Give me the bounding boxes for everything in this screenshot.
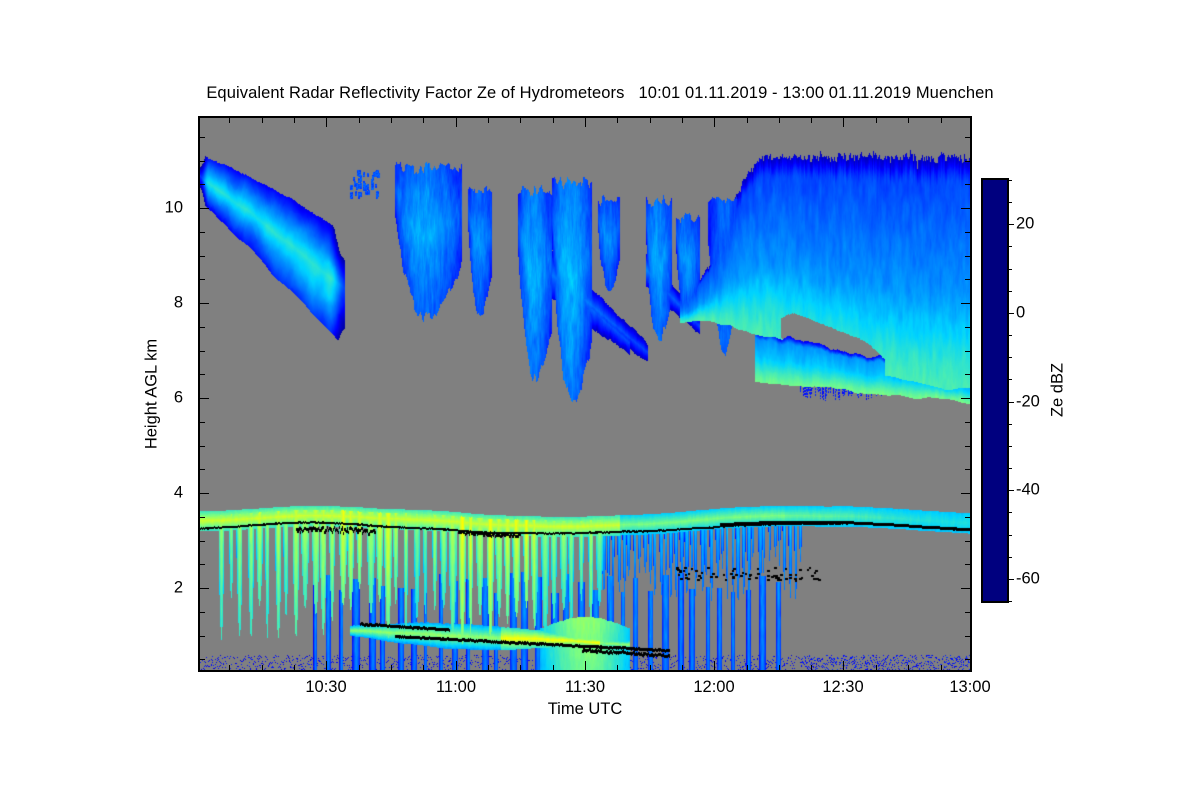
tick-mark — [941, 665, 942, 670]
tick-mark — [456, 118, 457, 127]
tick-mark — [488, 665, 489, 670]
tick-mark — [965, 422, 970, 423]
colorbar-tick — [1009, 224, 1014, 225]
x-axis-title: Time UTC — [548, 700, 623, 719]
tick-mark — [585, 661, 586, 670]
tick-mark — [200, 351, 205, 352]
colorbar-tick-label: 20 — [1016, 215, 1034, 234]
colorbar-minor-tick — [1009, 601, 1012, 602]
tick-mark — [200, 659, 205, 660]
tick-mark — [965, 161, 970, 162]
tick-mark — [961, 208, 970, 209]
tick-mark — [965, 612, 970, 613]
y-tick-label: 2 — [145, 579, 183, 598]
tick-mark — [965, 256, 970, 257]
colorbar-minor-tick — [1009, 379, 1012, 380]
colorbar-tick — [1009, 579, 1014, 580]
tick-mark — [965, 469, 970, 470]
tick-mark — [961, 493, 970, 494]
x-tick-label: 11:30 — [565, 678, 605, 697]
tick-mark — [965, 659, 970, 660]
tick-mark — [200, 374, 205, 375]
tick-mark — [965, 137, 970, 138]
tick-mark — [811, 665, 812, 670]
tick-mark — [965, 541, 970, 542]
tick-mark — [423, 118, 424, 123]
x-tick-label: 12:30 — [822, 678, 863, 697]
colorbar-minor-tick — [1009, 512, 1012, 513]
radar-reflectivity-figure: Equivalent Radar Reflectivity Factor Ze … — [0, 0, 1200, 800]
colorbar-tick-label: -40 — [1016, 481, 1040, 500]
tick-mark — [200, 137, 205, 138]
tick-mark — [200, 517, 205, 518]
colorbar-title: Ze dBZ — [1049, 363, 1068, 417]
tick-mark — [747, 665, 748, 670]
y-tick-label: 4 — [145, 484, 183, 503]
colorbar-minor-tick — [1009, 202, 1012, 203]
reflectivity-heatmap — [200, 118, 970, 670]
tick-mark — [961, 588, 970, 589]
tick-mark — [200, 612, 205, 613]
tick-mark — [779, 665, 780, 670]
y-axis-title: Height AGL km — [143, 339, 162, 449]
tick-mark — [262, 118, 263, 123]
tick-mark — [682, 665, 683, 670]
tick-mark — [714, 661, 715, 670]
tick-mark — [488, 118, 489, 123]
tick-mark — [262, 665, 263, 670]
colorbar-minor-tick — [1009, 535, 1012, 536]
tick-mark — [965, 517, 970, 518]
plot-area — [198, 116, 972, 672]
tick-mark — [200, 303, 209, 304]
tick-mark — [965, 184, 970, 185]
tick-mark — [553, 665, 554, 670]
tick-mark — [200, 232, 205, 233]
colorbar-tick-label: 0 — [1016, 304, 1025, 323]
colorbar-minor-tick — [1009, 291, 1012, 292]
tick-mark — [520, 118, 521, 123]
colorbar-minor-tick — [1009, 180, 1012, 181]
tick-mark — [200, 161, 205, 162]
tick-mark — [359, 118, 360, 123]
tick-mark — [965, 327, 970, 328]
tick-mark — [229, 118, 230, 123]
tick-mark — [617, 118, 618, 123]
tick-mark — [200, 564, 205, 565]
colorbar-minor-tick — [1009, 446, 1012, 447]
x-tick-label: 11:00 — [436, 678, 476, 697]
tick-mark — [294, 118, 295, 123]
tick-mark — [908, 665, 909, 670]
page-title: Equivalent Radar Reflectivity Factor Ze … — [0, 84, 1200, 103]
tick-mark — [965, 564, 970, 565]
colorbar-tick-label: -20 — [1016, 393, 1040, 412]
tick-mark — [779, 118, 780, 123]
tick-mark — [391, 665, 392, 670]
tick-mark — [876, 665, 877, 670]
tick-mark — [970, 118, 971, 127]
tick-mark — [811, 118, 812, 123]
tick-mark — [908, 118, 909, 123]
tick-mark — [553, 118, 554, 123]
tick-mark — [520, 665, 521, 670]
colorbar-minor-tick — [1009, 246, 1012, 247]
x-tick-label: 10:30 — [305, 678, 346, 697]
colorbar-minor-tick — [1009, 269, 1012, 270]
tick-mark — [970, 661, 971, 670]
y-tick-label: 10 — [145, 199, 183, 218]
tick-mark — [200, 636, 205, 637]
colorbar-minor-tick — [1009, 557, 1012, 558]
tick-mark — [965, 232, 970, 233]
tick-mark — [200, 327, 205, 328]
colorbar-minor-tick — [1009, 468, 1012, 469]
tick-mark — [200, 493, 209, 494]
tick-mark — [200, 184, 205, 185]
tick-mark — [941, 118, 942, 123]
tick-mark — [965, 279, 970, 280]
tick-mark — [650, 665, 651, 670]
y-tick-label: 8 — [145, 294, 183, 313]
tick-mark — [585, 118, 586, 127]
tick-mark — [843, 661, 844, 670]
tick-mark — [843, 118, 844, 127]
tick-mark — [617, 665, 618, 670]
tick-mark — [200, 398, 209, 399]
colorbar-tick — [1009, 490, 1014, 491]
tick-mark — [326, 118, 327, 127]
tick-mark — [391, 118, 392, 123]
tick-mark — [965, 446, 970, 447]
tick-mark — [200, 541, 205, 542]
tick-mark — [965, 636, 970, 637]
tick-mark — [326, 661, 327, 670]
tick-mark — [961, 303, 970, 304]
tick-mark — [682, 118, 683, 123]
tick-mark — [876, 118, 877, 123]
tick-mark — [200, 588, 209, 589]
colorbar-tick — [1009, 313, 1014, 314]
tick-mark — [423, 665, 424, 670]
colorbar-minor-tick — [1009, 357, 1012, 358]
tick-mark — [200, 422, 205, 423]
tick-mark — [961, 398, 970, 399]
tick-mark — [965, 374, 970, 375]
colorbar-minor-tick — [1009, 335, 1012, 336]
colorbar-minor-tick — [1009, 424, 1012, 425]
tick-mark — [200, 446, 205, 447]
tick-mark — [200, 208, 209, 209]
tick-mark — [965, 351, 970, 352]
colorbar-gradient — [983, 180, 1007, 601]
tick-mark — [200, 469, 205, 470]
tick-mark — [456, 661, 457, 670]
x-tick-label: 12:00 — [693, 678, 734, 697]
tick-mark — [294, 665, 295, 670]
tick-mark — [714, 118, 715, 127]
tick-mark — [200, 279, 205, 280]
colorbar — [981, 178, 1009, 603]
colorbar-tick-label: -60 — [1016, 570, 1040, 589]
tick-mark — [747, 118, 748, 123]
tick-mark — [200, 256, 205, 257]
x-tick-label: 13:00 — [949, 678, 990, 697]
tick-mark — [359, 665, 360, 670]
colorbar-tick — [1009, 402, 1014, 403]
tick-mark — [229, 665, 230, 670]
tick-mark — [650, 118, 651, 123]
